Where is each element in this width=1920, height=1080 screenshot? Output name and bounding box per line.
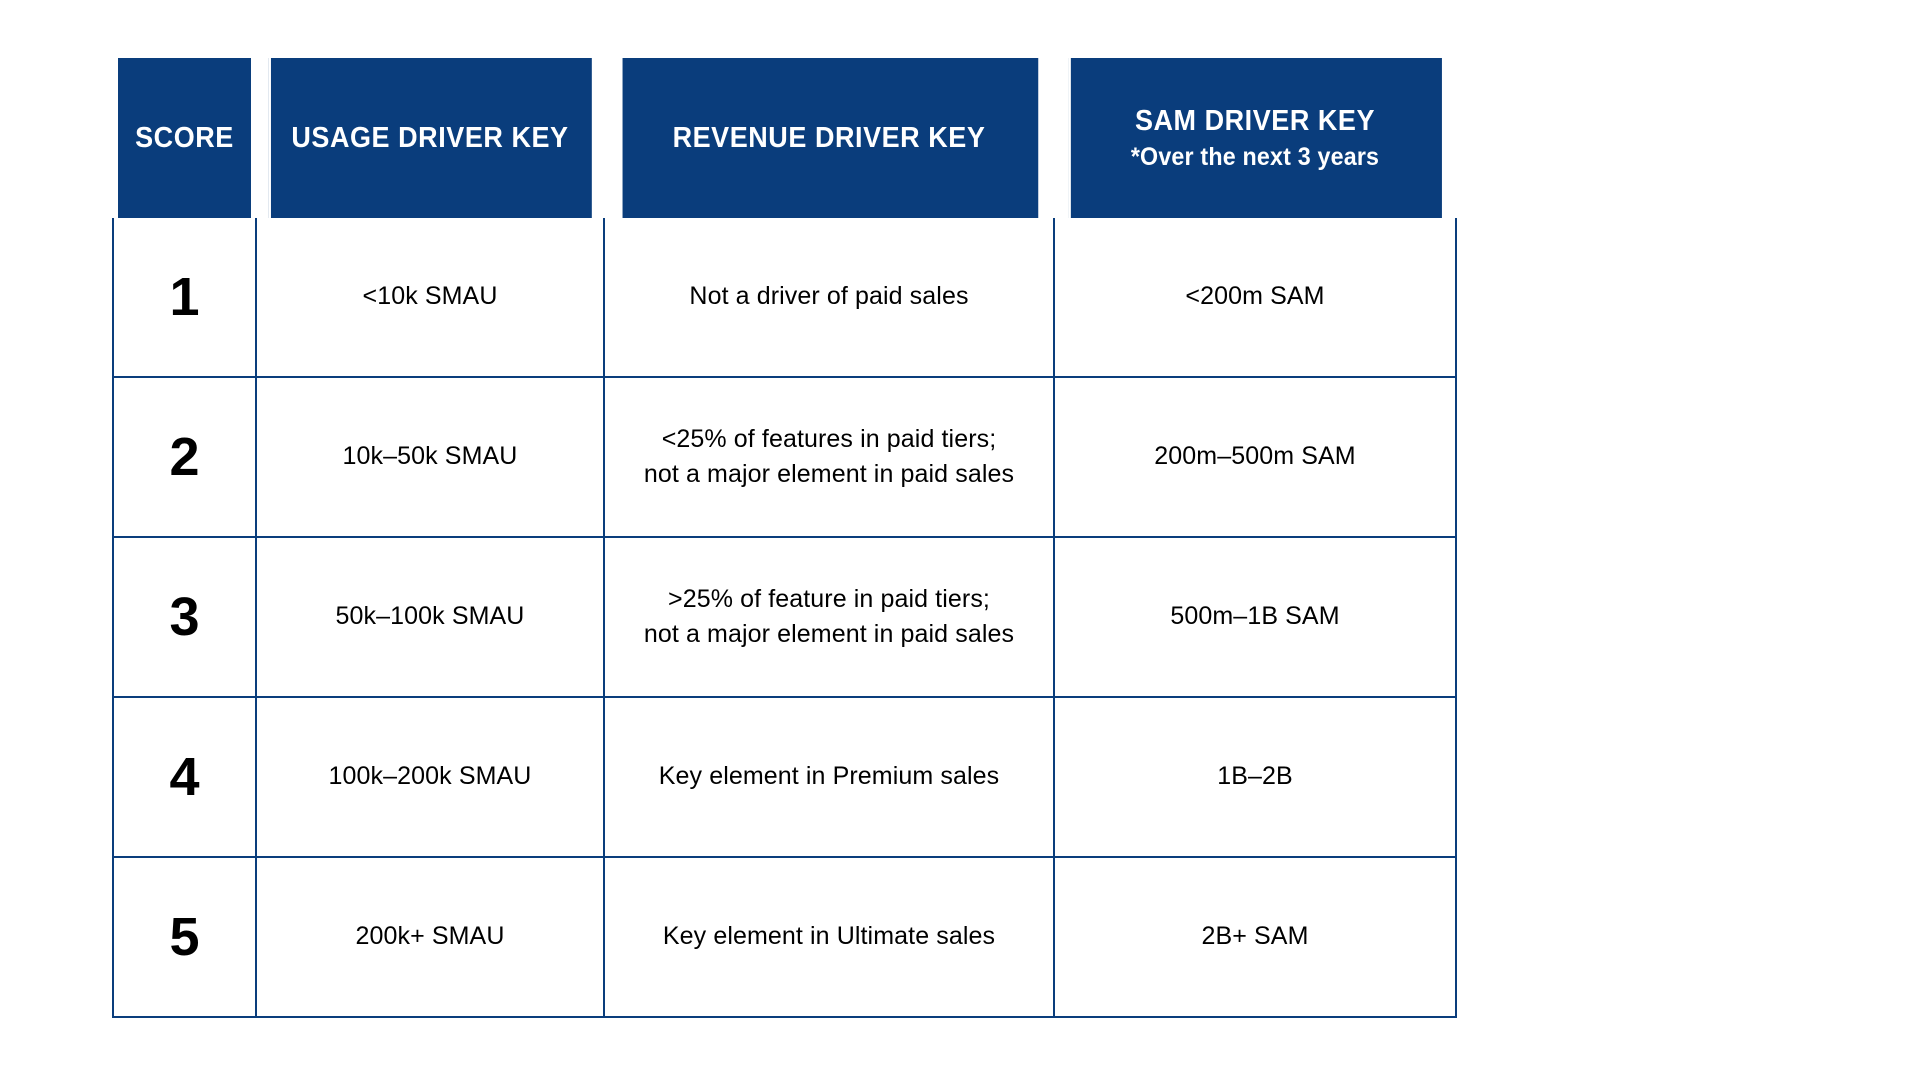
scoring-matrix-table: SCORE USAGE DRIVER KEY REVENUE DRIVER KE…	[112, 58, 1457, 1018]
cell-revenue-line-1: >25% of feature in paid tiers;	[619, 582, 1039, 618]
cell-revenue: Not a driver of paid sales	[604, 218, 1054, 377]
cell-usage: 100k–200k SMAU	[256, 697, 604, 857]
cell-score: 3	[113, 537, 256, 697]
cell-usage: 10k–50k SMAU	[256, 377, 604, 537]
column-header-sam-label: SAM DRIVER KEY	[1077, 104, 1432, 138]
table-header: SCORE USAGE DRIVER KEY REVENUE DRIVER KE…	[113, 58, 1456, 218]
column-header-usage-driver-key: USAGE DRIVER KEY	[268, 58, 592, 218]
column-header-sam-footnote: *Over the next 3 years	[1077, 143, 1432, 172]
cell-revenue: >25% of feature in paid tiers; not a maj…	[604, 537, 1054, 697]
table-row: 3 50k–100k SMAU >25% of feature in paid …	[113, 537, 1456, 697]
cell-usage: 200k+ SMAU	[256, 857, 604, 1017]
cell-revenue: <25% of features in paid tiers; not a ma…	[604, 377, 1054, 537]
cell-revenue-line-1: Key element in Ultimate sales	[619, 919, 1039, 955]
table-row: 4 100k–200k SMAU Key element in Premium …	[113, 697, 1456, 857]
column-header-score-label: SCORE	[127, 121, 241, 155]
cell-revenue-line-2: not a major element in paid sales	[619, 617, 1039, 653]
table-row: 1 <10k SMAU Not a driver of paid sales <…	[113, 218, 1456, 377]
cell-revenue-line-1: Not a driver of paid sales	[619, 279, 1039, 315]
column-header-sam-driver-key: SAM DRIVER KEY *Over the next 3 years	[1068, 58, 1442, 218]
cell-score: 1	[113, 218, 256, 377]
cell-usage: <10k SMAU	[256, 218, 604, 377]
table-row: 2 10k–50k SMAU <25% of features in paid …	[113, 377, 1456, 537]
cell-score: 2	[113, 377, 256, 537]
cell-sam: 200m–500m SAM	[1054, 377, 1456, 537]
cell-revenue: Key element in Premium sales	[604, 697, 1054, 857]
column-header-revenue-label: REVENUE DRIVER KEY	[629, 121, 1029, 155]
cell-score: 4	[113, 697, 256, 857]
cell-sam: 500m–1B SAM	[1054, 537, 1456, 697]
cell-revenue-line-1: <25% of features in paid tiers;	[619, 422, 1039, 458]
column-header-score: SCORE	[118, 58, 251, 218]
cell-score: 5	[113, 857, 256, 1017]
column-header-revenue-driver-key: REVENUE DRIVER KEY	[620, 58, 1039, 218]
cell-sam: 1B–2B	[1054, 697, 1456, 857]
cell-usage: 50k–100k SMAU	[256, 537, 604, 697]
table-body: 1 <10k SMAU Not a driver of paid sales <…	[113, 218, 1456, 1017]
cell-revenue-line-2: not a major element in paid sales	[619, 457, 1039, 493]
header-row: SCORE USAGE DRIVER KEY REVENUE DRIVER KE…	[113, 58, 1456, 218]
cell-revenue-line-1: Key element in Premium sales	[619, 759, 1039, 795]
page-canvas: SCORE USAGE DRIVER KEY REVENUE DRIVER KE…	[0, 0, 1920, 1080]
table-row: 5 200k+ SMAU Key element in Ultimate sal…	[113, 857, 1456, 1017]
cell-sam: 2B+ SAM	[1054, 857, 1456, 1017]
cell-sam: <200m SAM	[1054, 218, 1456, 377]
cell-revenue: Key element in Ultimate sales	[604, 857, 1054, 1017]
column-header-usage-label: USAGE DRIVER KEY	[277, 121, 582, 155]
